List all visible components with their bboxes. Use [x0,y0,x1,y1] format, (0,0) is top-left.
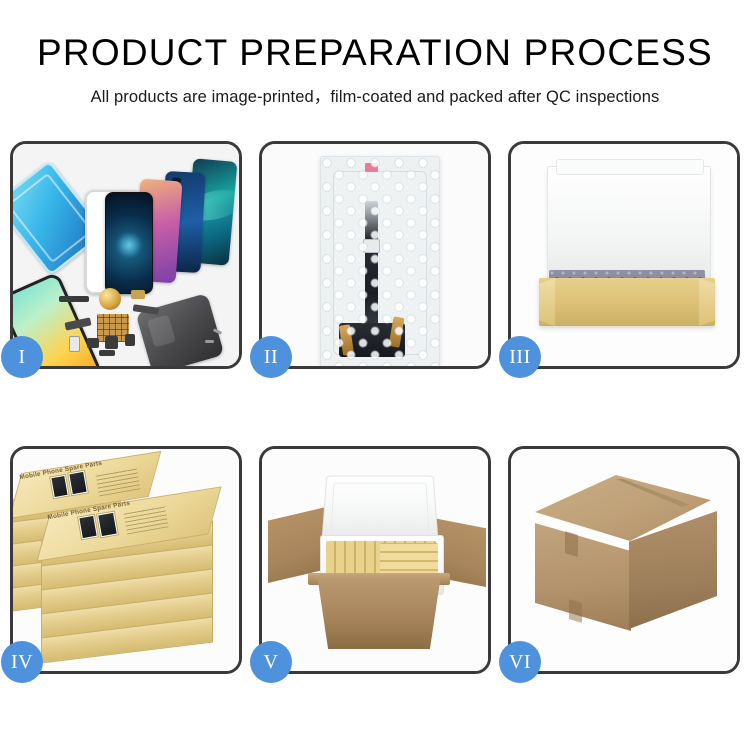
step-1-image [13,144,239,366]
carton-tape-icon [565,531,578,557]
carton-foam-cooler-illustration [262,449,488,671]
process-step-panel-6[interactable]: VI [508,446,740,674]
bubble-wrap-illustration [262,144,488,366]
step-4-image: Mobile Phone Spare Parts Mobile Phone Sp… [13,449,239,671]
step-3-image [511,144,737,366]
gold-contact-icon [131,290,145,299]
box-flap-right-icon [699,278,715,326]
box-screen-print-icon [67,470,89,497]
screw-icon [205,340,214,343]
page-title: PRODUCT PREPARATION PROCESS [0,34,750,73]
process-step-grid: I II [10,141,740,674]
phone-dark-screen-icon [105,192,153,294]
white-connector-icon [363,239,380,253]
white-foam-lid-icon [547,166,711,286]
carton-tape-icon [569,599,582,623]
part-strip-icon [59,296,89,302]
process-step-panel-1[interactable]: I [10,141,242,369]
page-subtitle: All products are image-printed，film-coat… [0,83,750,107]
process-step-panel-5[interactable]: V [259,446,491,674]
lcd-flex-icon [365,201,378,333]
foam-cooler-lid-icon [322,476,439,541]
speaker-module-icon [105,336,118,349]
step-badge-5: V [250,641,292,683]
page-header: PRODUCT PREPARATION PROCESS All products… [0,0,750,107]
step-6-image [511,449,737,671]
connector-icon [99,350,115,356]
bubble-wrap-bag-icon [320,156,440,366]
sim-tray-icon [69,336,80,352]
step-badge-3: III [499,336,541,378]
process-step-panel-2[interactable]: II [259,141,491,369]
step-badge-6: VI [499,641,541,683]
process-step-panel-3[interactable]: III [508,141,740,369]
pink-label-icon [365,163,378,172]
step-badge-1: I [1,336,43,378]
step-5-image [262,449,488,671]
carton-front-face-icon [535,523,631,631]
step-2-image [262,144,488,366]
phone-back-housing-icon [136,293,225,366]
step-badge-2: II [250,336,292,378]
box-stack: Mobile Phone Spare Parts Mobile Phone Sp… [13,457,239,671]
kraft-box-base-icon [539,278,715,326]
process-step-panel-4[interactable]: Mobile Phone Spare Parts Mobile Phone Sp… [10,446,242,674]
gold-coil-icon [99,288,121,310]
stacked-boxes-illustration: Mobile Phone Spare Parts Mobile Phone Sp… [13,449,239,671]
box-screen-print-icon [96,511,119,539]
screw-cap-icon [87,338,99,348]
phones-and-parts-illustration [13,144,239,366]
foam-lined-box-illustration [511,144,737,366]
carton-flap-left-icon [268,507,326,583]
carton-body-icon [312,577,446,649]
sealed-carton-illustration [511,449,737,671]
step-badge-4: IV [1,641,43,683]
camera-module-icon [125,334,135,346]
box-flap-left-icon [539,278,555,326]
